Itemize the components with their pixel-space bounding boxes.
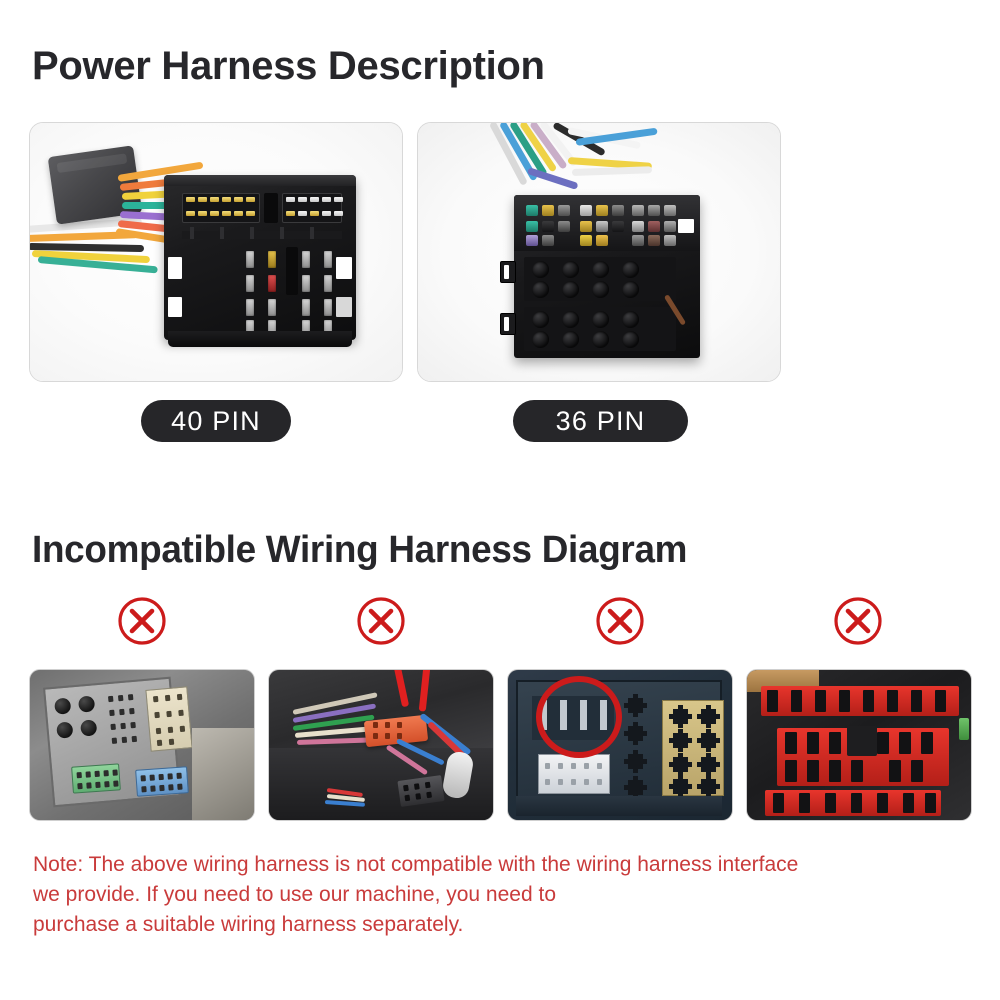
note-line-2: we provide. If you need to use our machi…	[33, 880, 953, 910]
iso-36pin-card	[417, 122, 781, 382]
circled-x-icon	[594, 595, 646, 647]
red-highlight-circle	[536, 676, 622, 758]
note-line-3: purchase a suitable wiring harness separ…	[33, 910, 953, 940]
connector-body	[164, 175, 356, 340]
badge-36-pin: 36 PIN	[513, 400, 688, 442]
badge-40-pin: 40 PIN	[141, 400, 291, 442]
incompatible-harness-photo-3	[507, 669, 733, 821]
compatibility-note: Note: The above wiring harness is not co…	[33, 850, 953, 940]
quadlock-40pin-card	[29, 122, 403, 382]
circled-x-icon	[355, 595, 407, 647]
incompatible-heading: Incompatible Wiring Harness Diagram	[32, 529, 687, 572]
incompatible-harness-photo-2	[268, 669, 494, 821]
power-harness-heading: Power Harness Description	[32, 44, 545, 89]
incompatible-harness-photo-4	[746, 669, 972, 821]
connector-body	[514, 195, 700, 358]
circled-x-icon	[832, 595, 884, 647]
quadlock-40pin-connector-photo	[30, 123, 402, 381]
iso-36pin-connector-photo	[418, 123, 780, 381]
infographic-page: Power Harness Description	[0, 0, 1000, 1000]
note-line-1: Note: The above wiring harness is not co…	[33, 850, 953, 880]
incompatible-harness-photo-1	[29, 669, 255, 821]
circled-x-icon	[116, 595, 168, 647]
